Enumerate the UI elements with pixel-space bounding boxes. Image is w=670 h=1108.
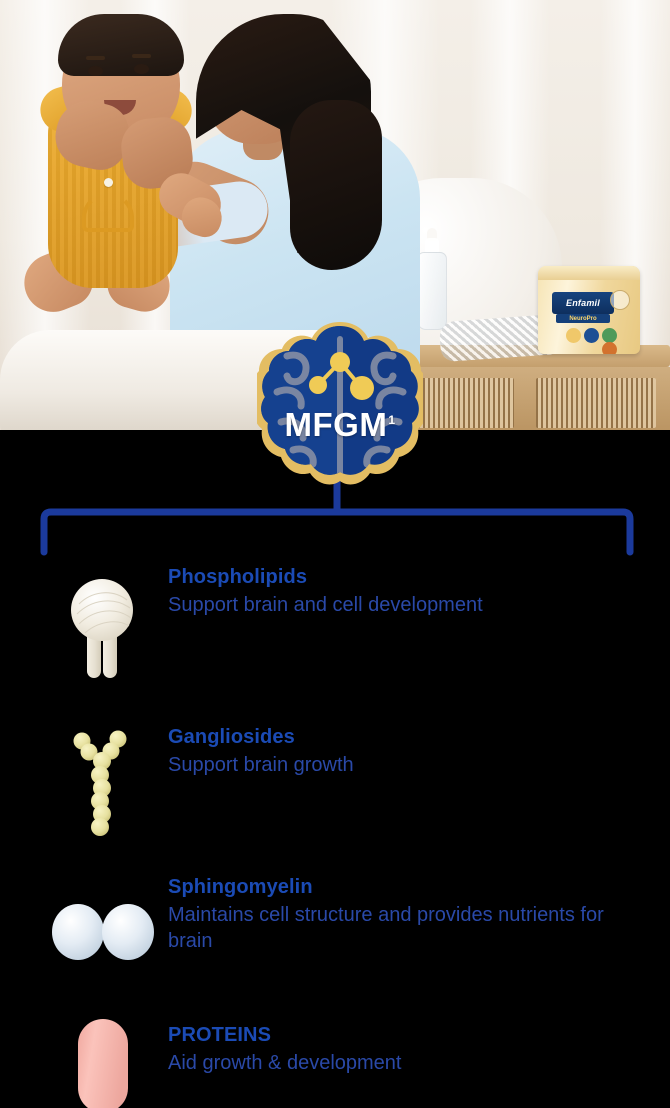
ganglioside-icon — [72, 729, 134, 837]
can-line-label: NeuroPro — [556, 314, 610, 323]
sphingomyelin-icon-cell — [38, 903, 168, 961]
baby-brow — [86, 56, 105, 60]
protein-text-cell: PROTEINS Aid growth & development — [168, 1006, 670, 1076]
cane-panel — [418, 378, 514, 428]
component-description: Support brain and cell development — [168, 592, 620, 618]
protein-icon-cell — [38, 1017, 168, 1108]
cane-panel — [536, 378, 656, 428]
brain-icon — [257, 322, 423, 488]
baby-romper-button — [104, 178, 113, 187]
component-title: Gangliosides — [168, 726, 670, 750]
mother-hair-strand — [290, 100, 382, 270]
baby-eye — [88, 66, 103, 76]
ganglioside-icon-cell — [38, 729, 168, 837]
can-seal-icon — [602, 328, 617, 343]
mfgm-badge: MFGM1 — [257, 322, 423, 488]
baby-bottle — [417, 252, 447, 330]
can-lid — [538, 266, 640, 280]
can-seal-icon — [584, 328, 599, 343]
bracket-rail — [44, 512, 630, 552]
baby-eye — [134, 64, 149, 74]
phospholipid-icon — [67, 576, 139, 680]
component-description: Aid growth & development — [168, 1050, 620, 1076]
can-seal-icon — [602, 342, 617, 354]
sphingomyelin-icon — [51, 903, 155, 961]
enfamil-formula-can: Enfamil NeuroPro — [538, 266, 640, 354]
mfgm-infographic-page: Enfamil NeuroPro — [0, 0, 670, 1108]
component-description: Maintains cell structure and provides nu… — [168, 902, 620, 955]
baby-hair — [58, 14, 184, 76]
component-title: PROTEINS — [168, 1024, 670, 1048]
mfgm-components-list: Phospholipids Support brain and cell dev… — [0, 548, 670, 1108]
phospholipid-icon-cell — [38, 576, 168, 680]
can-brand-label: Enfamil — [552, 292, 614, 314]
protein-capsule-icon — [74, 1017, 132, 1108]
list-item: Sphingomyelin Maintains cell structure a… — [0, 858, 670, 1006]
can-corner-badge — [610, 290, 630, 310]
component-title: Sphingomyelin — [168, 876, 670, 900]
ganglioside-text-cell: Gangliosides Support brain growth — [168, 708, 670, 778]
list-item: PROTEINS Aid growth & development — [0, 1006, 670, 1108]
list-item: Phospholipids Support brain and cell dev… — [0, 548, 670, 708]
baby-brow — [132, 54, 151, 58]
list-item: Gangliosides Support brain growth — [0, 708, 670, 858]
can-seal-icon — [566, 328, 581, 343]
component-description: Support brain growth — [168, 752, 620, 778]
component-title: Phospholipids — [168, 566, 670, 590]
sphingomyelin-text-cell: Sphingomyelin Maintains cell structure a… — [168, 858, 670, 954]
